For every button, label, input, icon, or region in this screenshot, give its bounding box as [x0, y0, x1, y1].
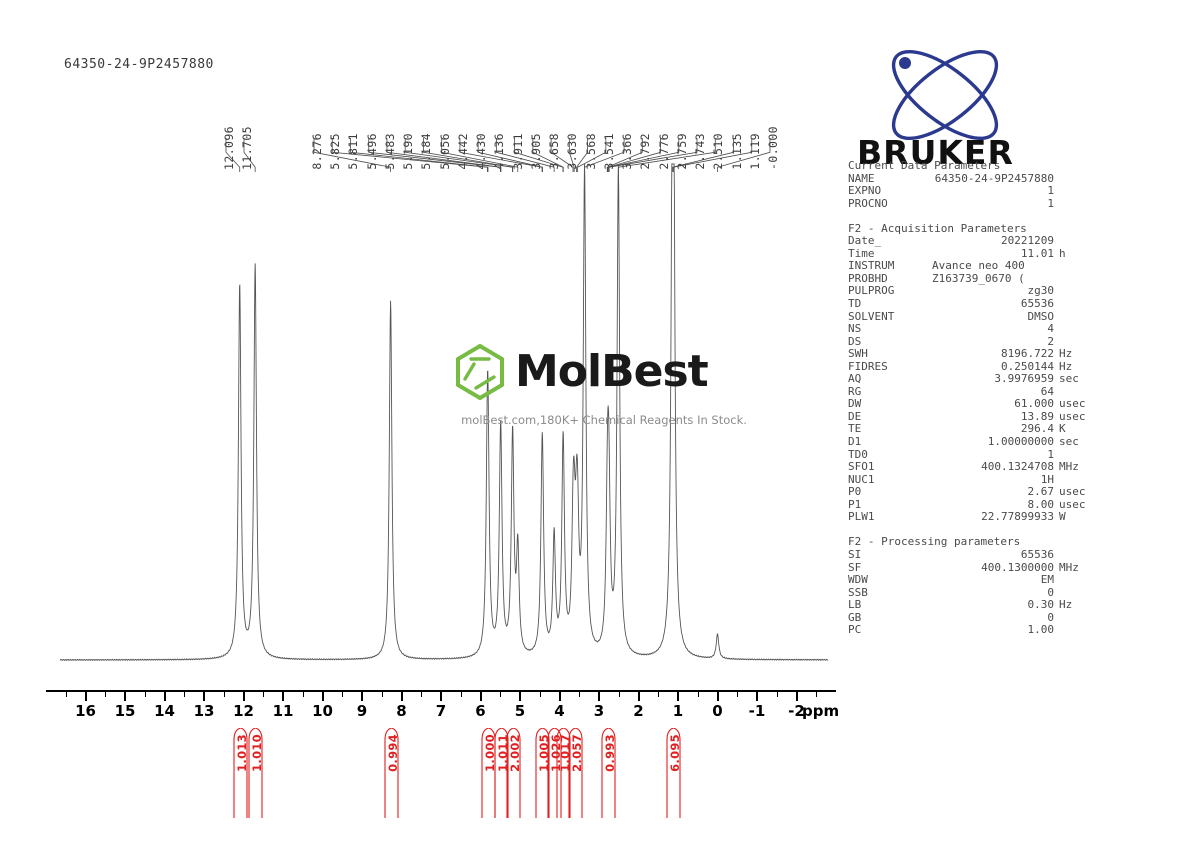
parameter-value: 20221209: [926, 235, 1054, 248]
parameter-name: AQ: [848, 373, 926, 386]
axis-tick: [519, 692, 521, 701]
axis-tick: [559, 692, 561, 701]
axis-tick-label: 3: [594, 702, 604, 720]
integral-value: 1.010: [250, 734, 264, 772]
axis-minor-tick: [382, 692, 383, 697]
axis-minor-tick: [342, 692, 343, 697]
parameter-row: WDWEM: [848, 574, 1178, 587]
parameter-row: NS4: [848, 323, 1178, 336]
bruker-atom-dot: [899, 57, 911, 69]
parameter-name: SFO1: [848, 461, 926, 474]
parameter-unit: Hz: [1054, 348, 1072, 361]
parameter-row: SF400.1300000MHz: [848, 562, 1178, 575]
axis-minor-tick: [619, 692, 620, 697]
axis-tick-label: 10: [312, 702, 333, 720]
axis-tick: [164, 692, 166, 701]
parameter-row: GB0: [848, 612, 1178, 625]
parameter-row: EXPNO1: [848, 185, 1178, 198]
axis-tick: [796, 692, 798, 701]
axis-minor-tick: [658, 692, 659, 697]
parameter-value: EM: [926, 574, 1054, 587]
axis-tick-label: -2: [788, 702, 805, 720]
axis-tick-label: 2: [633, 702, 643, 720]
parameter-name: P0: [848, 486, 926, 499]
bruker-atom-icon: [855, 48, 1035, 143]
axis-minor-tick: [184, 692, 185, 697]
axis-tick-label: -1: [749, 702, 766, 720]
parameter-value: 1.00: [926, 624, 1054, 637]
parameter-row: Date_20221209: [848, 235, 1178, 248]
parameter-row: PC1.00: [848, 624, 1178, 637]
parameter-name: D1: [848, 436, 926, 449]
axis-tick: [401, 692, 403, 701]
integral-value: 6.095: [668, 734, 682, 772]
axis-tick: [480, 692, 482, 701]
ppm-axis: ppm 161514131211109876543210-1-2: [46, 690, 836, 712]
axis-tick: [717, 692, 719, 701]
parameter-row: DW61.000usec: [848, 398, 1178, 411]
parameter-value: 8196.722: [926, 348, 1054, 361]
axis-tick: [203, 692, 205, 701]
axis-unit-label: ppm: [802, 702, 839, 720]
parameter-row: RG64: [848, 386, 1178, 399]
parameter-value: 3.9976959: [926, 373, 1054, 386]
parameter-value: 65536: [926, 549, 1054, 562]
axis-tick-label: 11: [273, 702, 294, 720]
parameter-value: 0.30: [926, 599, 1054, 612]
axis-tick-label: 0: [712, 702, 722, 720]
parameter-value: 1: [926, 185, 1054, 198]
parameter-name: TD: [848, 298, 926, 311]
axis-minor-tick: [263, 692, 264, 697]
axis-minor-tick: [224, 692, 225, 697]
parameter-row: PLW122.77899933W: [848, 511, 1178, 524]
axis-minor-tick: [421, 692, 422, 697]
parameter-value: DMSO: [926, 311, 1054, 324]
axis-minor-tick: [698, 692, 699, 697]
axis-tick: [756, 692, 758, 701]
axis-minor-tick: [816, 692, 817, 697]
axis-minor-tick: [145, 692, 146, 697]
axis-tick-label: 14: [154, 702, 175, 720]
parameter-value: 4: [926, 323, 1054, 336]
parameter-value: 22.77899933: [926, 511, 1054, 524]
parameter-name: NS: [848, 323, 926, 336]
axis-tick-label: 6: [475, 702, 485, 720]
axis-minor-tick: [461, 692, 462, 697]
axis-minor-tick: [540, 692, 541, 697]
parameter-row: LB0.30Hz: [848, 599, 1178, 612]
parameter-value: 64350-24-9P2457880: [926, 173, 1054, 186]
axis-minor-tick: [777, 692, 778, 697]
parameter-value: 65536: [926, 298, 1054, 311]
axis-minor-tick: [737, 692, 738, 697]
parameter-row: PROCNO1: [848, 198, 1178, 211]
parameter-unit: Hz: [1054, 599, 1072, 612]
axis-minor-tick: [303, 692, 304, 697]
parameter-row: NAME64350-24-9P2457880: [848, 173, 1178, 186]
parameter-unit: W: [1054, 511, 1066, 524]
axis-tick-label: 13: [194, 702, 215, 720]
axis-tick: [124, 692, 126, 701]
parameter-value: 400.1300000: [926, 562, 1054, 575]
parameter-row: PULPROGzg30: [848, 285, 1178, 298]
axis-tick: [282, 692, 284, 701]
axis-tick-label: 4: [554, 702, 564, 720]
parameter-unit: MHz: [1054, 461, 1079, 474]
axis-tick: [440, 692, 442, 701]
parameter-name: LB: [848, 599, 926, 612]
axis-tick-label: 5: [515, 702, 525, 720]
watermark-wordmark: MolBest: [515, 350, 708, 394]
parameter-row: DE13.89usec: [848, 411, 1178, 424]
axis-minor-tick: [500, 692, 501, 697]
parameter-row: PROBHDZ163739_0670 (: [848, 273, 1178, 286]
watermark-tagline: molBest.com,180K+ Chemical Reagents In S…: [449, 413, 759, 427]
watermark-logo-row: MolBest: [449, 341, 708, 403]
parameter-value: 1.00000000: [926, 436, 1054, 449]
parameter-row: SI65536: [848, 549, 1178, 562]
parameter-spacer: [848, 210, 1178, 223]
parameter-unit: usec: [1054, 486, 1086, 499]
axis-tick-label: 15: [115, 702, 136, 720]
parameter-row: D11.00000000sec: [848, 436, 1178, 449]
axis-tick: [638, 692, 640, 701]
parameter-name: Date_: [848, 235, 926, 248]
acquisition-parameters-panel: Current Data ParametersNAME64350-24-9P24…: [848, 160, 1178, 637]
parameter-row: SFO1400.1324708MHz: [848, 461, 1178, 474]
parameter-row: SWH8196.722Hz: [848, 348, 1178, 361]
parameter-name: SWH: [848, 348, 926, 361]
axis-tick-label: 12: [233, 702, 254, 720]
parameter-value: 400.1324708: [926, 461, 1054, 474]
parameter-unit: sec: [1054, 436, 1079, 449]
parameter-row: SSB0: [848, 587, 1178, 600]
parameter-row: TD65536: [848, 298, 1178, 311]
axis-minor-tick: [579, 692, 580, 697]
integral-value: 2.002: [508, 734, 522, 772]
parameter-name: SI: [848, 549, 926, 562]
parameter-value: 1: [926, 198, 1054, 211]
axis-tick: [243, 692, 245, 701]
bruker-logo: BRUKER: [855, 48, 1035, 143]
axis-tick: [677, 692, 679, 701]
parameter-row: P02.67usec: [848, 486, 1178, 499]
integral-value: 1.013: [235, 734, 249, 772]
axis-tick-label: 9: [357, 702, 367, 720]
integral-group: 1.0131.0100.9941.0001.0112.0021.0051.026…: [0, 728, 840, 818]
parameter-name: PC: [848, 624, 926, 637]
parameter-row: AQ3.9976959sec: [848, 373, 1178, 386]
parameter-unit: sec: [1054, 373, 1079, 386]
integral-value: 0.994: [386, 734, 400, 772]
parameter-value: 2.67: [926, 486, 1054, 499]
axis-minor-tick: [105, 692, 106, 697]
axis-tick: [361, 692, 363, 701]
benzene-hexagon-icon: [449, 341, 511, 403]
integral-value: 2.057: [570, 734, 584, 772]
parameter-name: PLW1: [848, 511, 926, 524]
parameter-section-header: Current Data Parameters: [848, 160, 1178, 173]
parameter-row: NUC11H: [848, 474, 1178, 487]
parameter-value: Z163739_0670 (: [926, 273, 1025, 286]
parameter-unit: MHz: [1054, 562, 1079, 575]
molbest-watermark: MolBest molBest.com,180K+ Chemical Reage…: [449, 341, 759, 433]
parameter-name: WDW: [848, 574, 926, 587]
axis-tick-label: 16: [75, 702, 96, 720]
axis-tick: [598, 692, 600, 701]
axis-tick-label: 8: [396, 702, 406, 720]
parameter-name: PROCNO: [848, 198, 926, 211]
axis-minor-tick: [66, 692, 67, 697]
integral-value: 0.993: [603, 734, 617, 772]
axis-tick-label: 1: [673, 702, 683, 720]
axis-tick: [322, 692, 324, 701]
parameter-name: EXPNO: [848, 185, 926, 198]
parameter-section-header: F2 - Processing parameters: [848, 536, 1178, 549]
axis-tick-label: 7: [436, 702, 446, 720]
nmr-spectrum-page: 64350-24-9P2457880 12.09611.7058.2765.82…: [0, 0, 1190, 842]
parameter-unit: h: [1054, 248, 1066, 261]
parameter-row: SOLVENTDMSO: [848, 311, 1178, 324]
axis-tick: [85, 692, 87, 701]
